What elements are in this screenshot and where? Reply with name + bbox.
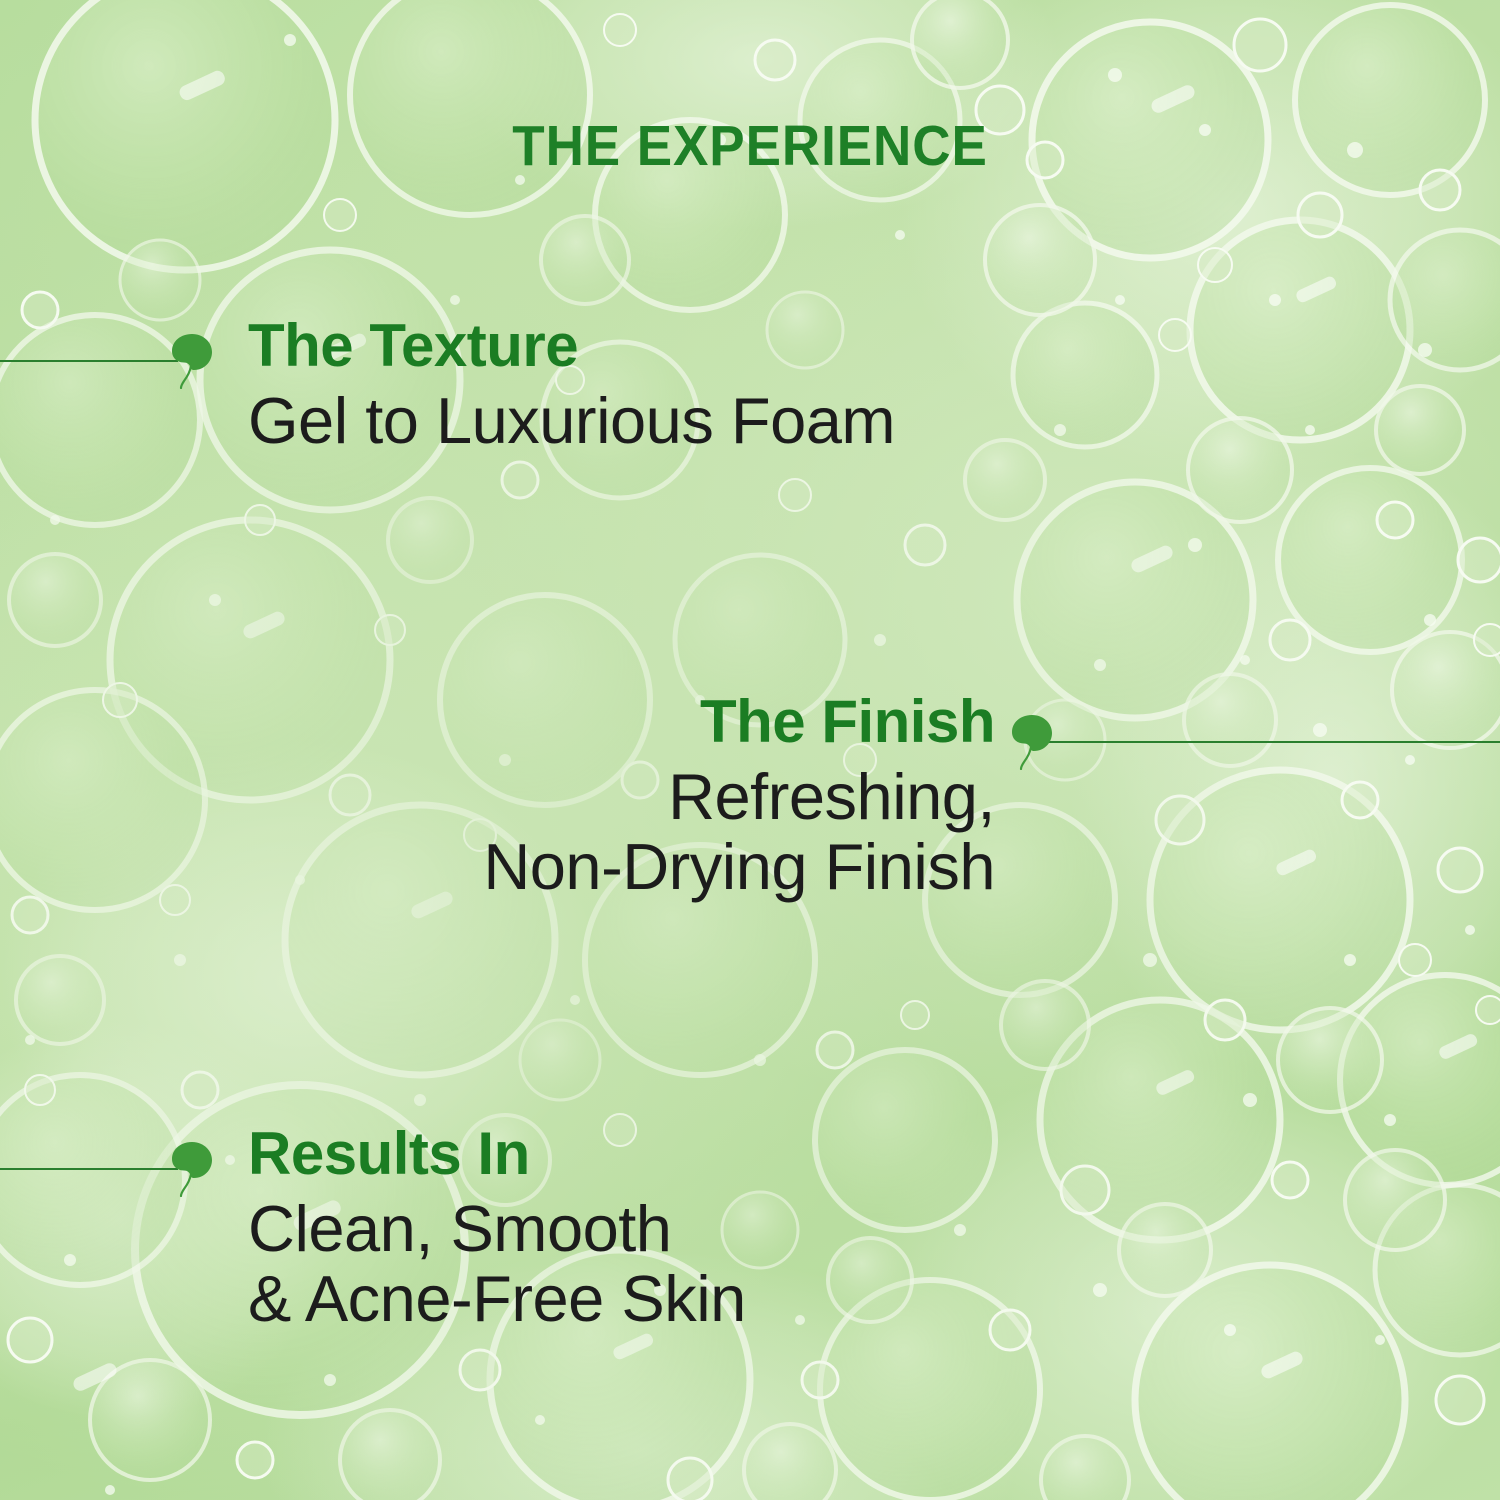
feature-label-texture: The Texture bbox=[248, 316, 895, 376]
feature-value-finish: Refreshing, Non-Drying Finish bbox=[483, 762, 995, 901]
page-title: THE EXPERIENCE bbox=[53, 113, 1448, 179]
feature-value-line: & Acne-Free Skin bbox=[248, 1264, 746, 1334]
feature-block-results: Results In Clean, Smooth & Acne-Free Ski… bbox=[248, 1124, 746, 1333]
leaf-icon bbox=[170, 333, 214, 389]
leaf-icon bbox=[170, 1141, 214, 1197]
feature-label-finish: The Finish bbox=[483, 692, 995, 752]
feature-value-line: Gel to Luxurious Foam bbox=[248, 386, 895, 456]
product-experience-graphic: THE EXPERIENCE The Texture Gel to Luxuri… bbox=[0, 0, 1500, 1500]
feature-value-texture: Gel to Luxurious Foam bbox=[248, 386, 895, 456]
feature-value-line: Refreshing, bbox=[483, 762, 995, 832]
feature-block-finish: The Finish Refreshing, Non-Drying Finish bbox=[483, 692, 995, 901]
feature-value-results: Clean, Smooth & Acne-Free Skin bbox=[248, 1194, 746, 1333]
feature-label-results: Results In bbox=[248, 1124, 746, 1184]
feature-block-texture: The Texture Gel to Luxurious Foam bbox=[248, 316, 895, 456]
connector-line-finish bbox=[1038, 741, 1500, 743]
connector-line-texture bbox=[0, 360, 178, 362]
connector-line-results bbox=[0, 1168, 178, 1170]
feature-value-line: Non-Drying Finish bbox=[483, 832, 995, 902]
leaf-icon bbox=[1010, 714, 1054, 770]
feature-value-line: Clean, Smooth bbox=[248, 1194, 746, 1264]
